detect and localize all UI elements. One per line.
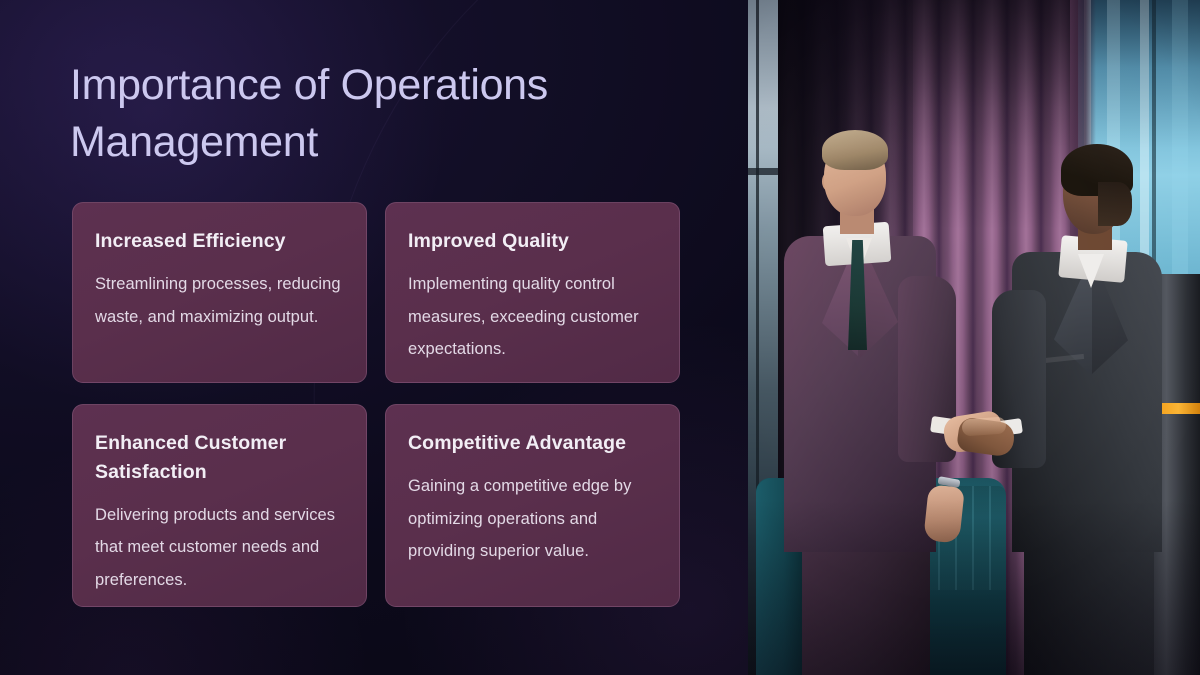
card-body: Gaining a competitive edge by optimizing… — [408, 470, 657, 568]
card-body: Delivering products and services that me… — [95, 499, 344, 597]
feature-card-increased-efficiency[interactable]: Increased Efficiency Streamlining proces… — [72, 202, 367, 383]
photo-person-right-hair — [1098, 182, 1132, 226]
photo-person-right-legs — [1024, 540, 1154, 675]
handshake-photo — [748, 0, 1200, 675]
photo-person-left-legs — [802, 540, 930, 675]
photo-person-left-hair — [822, 130, 888, 170]
card-title: Improved Quality — [408, 227, 657, 256]
card-body: Streamlining processes, reducing waste, … — [95, 268, 344, 333]
feature-card-grid: Increased Efficiency Streamlining proces… — [72, 202, 680, 607]
card-title: Increased Efficiency — [95, 227, 344, 256]
card-body: Implementing quality control measures, e… — [408, 268, 657, 366]
slide-title: Importance of Operations Management — [70, 57, 690, 171]
feature-card-enhanced-customer-satisfaction[interactable]: Enhanced Customer Satisfaction Deliverin… — [72, 404, 367, 607]
card-title: Enhanced Customer Satisfaction — [95, 429, 344, 487]
slide-root: Importance of Operations Management Incr… — [0, 0, 1200, 675]
card-title: Competitive Advantage — [408, 429, 657, 458]
feature-card-competitive-advantage[interactable]: Competitive Advantage Gaining a competit… — [385, 404, 680, 607]
feature-card-improved-quality[interactable]: Improved Quality Implementing quality co… — [385, 202, 680, 383]
photo-handshake-knuckles — [961, 416, 1006, 436]
